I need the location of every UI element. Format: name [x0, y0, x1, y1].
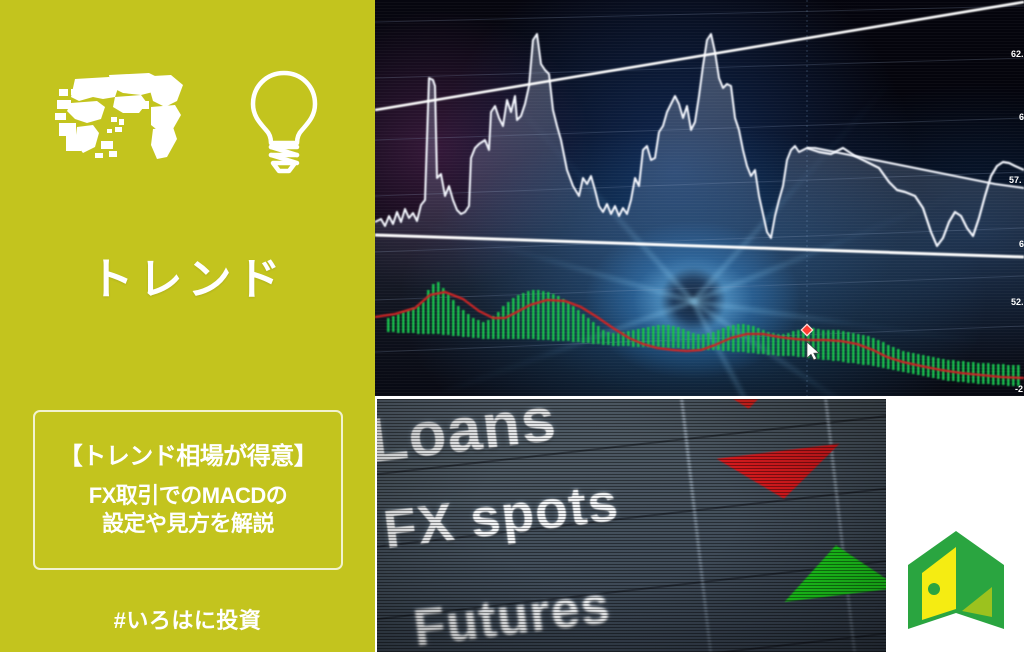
world-map-icon	[53, 67, 188, 177]
left-panel: トレンド 【トレンド相場が得意】 FX取引でのMACDの 設定や見方を解説 #い…	[0, 0, 375, 652]
irohani-door-logo	[904, 525, 1008, 635]
axis-label-3: 6	[1019, 239, 1024, 249]
lightbulb-icon	[246, 67, 322, 177]
logo-area	[886, 399, 1024, 652]
fx-board-photo: Loans FX spots Futures	[377, 399, 886, 652]
infographic-canvas: トレンド 【トレンド相場が得意】 FX取引でのMACDの 設定や見方を解説 #い…	[0, 0, 1024, 652]
trading-chart-photo: 62. 6 57. 6 52. -2	[375, 0, 1024, 396]
axis-label-1: 6	[1019, 112, 1024, 122]
headline-box: 【トレンド相場が得意】 FX取引でのMACDの 設定や見方を解説	[33, 410, 343, 570]
axis-label-2: 57.	[1009, 175, 1022, 185]
headline-line-1: 【トレンド相場が得意】	[59, 441, 318, 472]
page-title: トレンド	[0, 256, 375, 304]
seam-top	[375, 396, 886, 399]
chart-svg: 62. 6 57. 6 52. -2	[375, 0, 1024, 396]
seam-left	[375, 396, 377, 652]
axis-label-0: 62.	[1011, 49, 1024, 59]
hashtag-label: #いろはに投資	[0, 603, 375, 635]
headline-line-2: FX取引でのMACDの	[89, 482, 288, 511]
headline-line-3: 設定や見方を解説	[102, 510, 274, 539]
axis-label-4: 52.	[1011, 297, 1024, 307]
axis-label-5: -2	[1015, 384, 1023, 394]
icon-row	[0, 62, 375, 182]
